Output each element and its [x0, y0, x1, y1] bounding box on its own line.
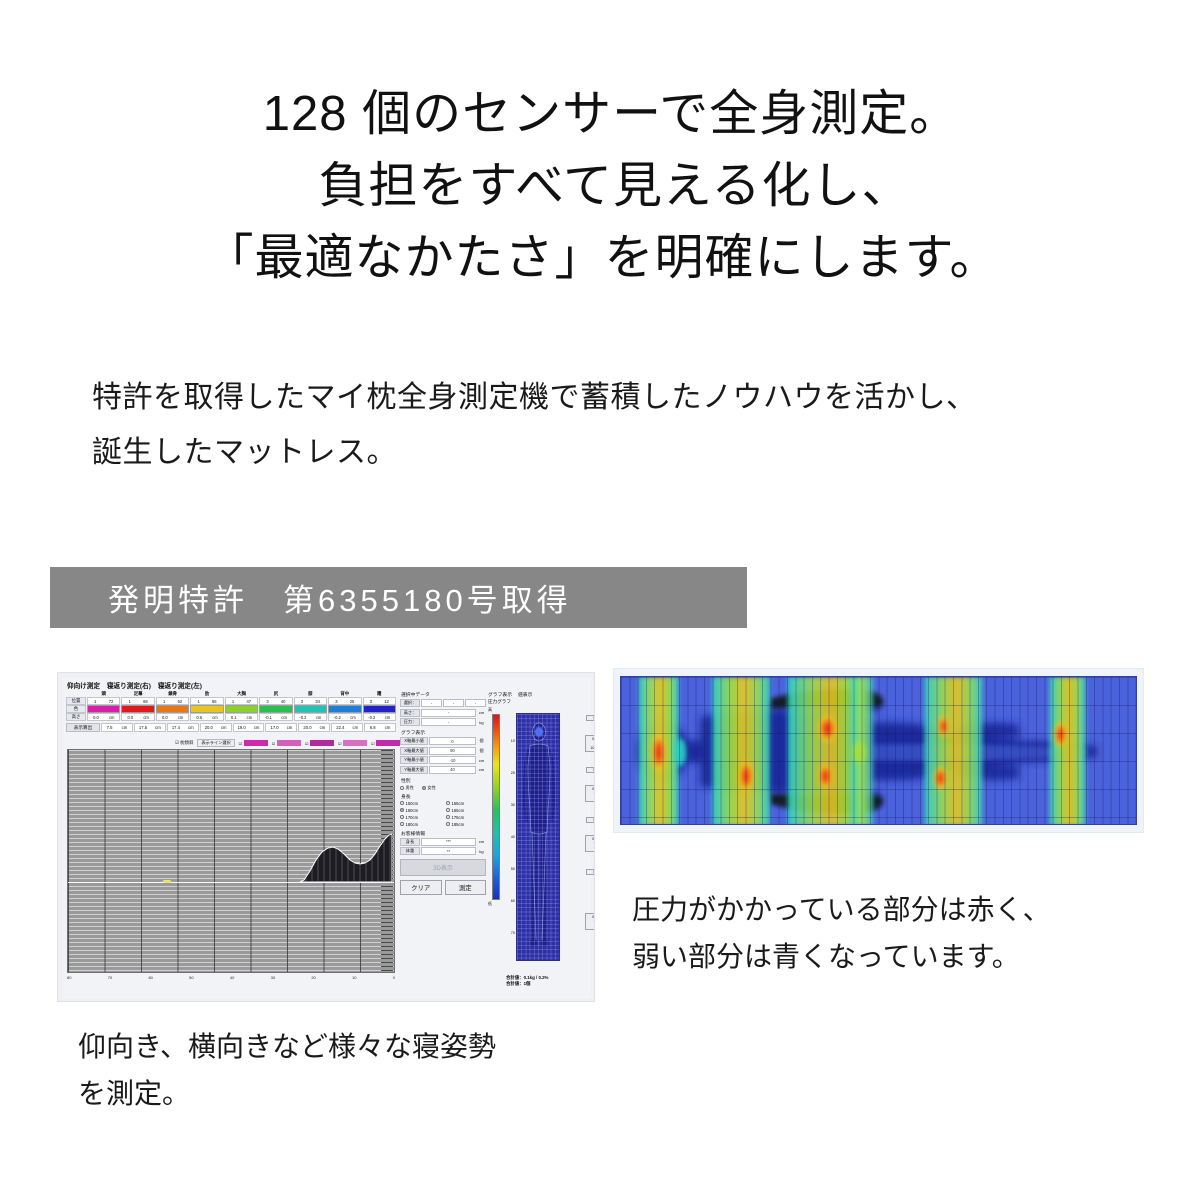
legend-swatch-3 — [310, 740, 334, 746]
cell-pos-b: 62 — [178, 699, 183, 704]
cell-u: cm — [188, 725, 194, 730]
graph-x-axis-labels: 80 70 60 50 40 30 20 10 0 — [67, 975, 395, 980]
colorbar-high-label: 高 — [488, 707, 492, 713]
cell-pos-b: 68 — [143, 699, 148, 704]
radio-gender-female-label: 女性 — [427, 785, 435, 791]
radio-dot — [400, 801, 404, 805]
graph-baseline — [68, 882, 394, 883]
cell-h: 0.0 — [162, 715, 168, 720]
table-row[interactable]: 340 — [259, 697, 292, 705]
region-waist-pct: 0% — [586, 846, 595, 851]
table-row[interactable]: 162 — [156, 697, 189, 705]
measure-button[interactable]: 測定 — [445, 880, 487, 895]
caption-right-line-1: 圧力がかかっている部分は赤く、 — [632, 886, 1051, 933]
control-panel: 選択中データ 選択： - - - 高さ： - cm 圧力： - kg グラ — [400, 691, 486, 895]
color-swatch-2 — [156, 705, 189, 713]
x-tick-2: 60 — [148, 975, 152, 980]
body-grid-lines — [517, 714, 559, 960]
field-customer-height-unit: cm — [477, 839, 486, 844]
lead-line-1: 特許を取得したマイ枕全身測定機で蓄積したノウハウを活かし、 — [92, 370, 1102, 425]
selected-data-title: 選択中データ — [401, 691, 486, 698]
table-row[interactable]: 17.4cm — [167, 723, 199, 732]
field-x-max-label: X軸最大値 — [400, 747, 428, 755]
region-values-head: 0.1kg 1個 100.0% — [585, 735, 595, 752]
cell-u: cm — [352, 725, 358, 730]
heatmap-canvas[interactable] — [620, 676, 1137, 825]
radio-dot — [400, 815, 404, 819]
y-tick-20: 20 — [511, 771, 515, 775]
field-selection-input-1[interactable]: - — [421, 699, 442, 707]
caption-right-line-2: 弱い部分は青くなっています。 — [632, 933, 1051, 980]
radio-height-155[interactable]: 155cm — [446, 801, 464, 806]
heatmap-sensor-grid — [621, 677, 1136, 824]
color-swatch-8 — [363, 705, 396, 713]
field-pressure-input[interactable]: - — [421, 718, 476, 726]
cell-u: cm — [143, 715, 148, 720]
table-row[interactable]: -0.2cm — [294, 713, 327, 721]
cell-pos-b: 72 — [109, 699, 114, 704]
field-height-unit: cm — [477, 710, 486, 715]
radio-height-170[interactable]: 170cm — [400, 815, 438, 820]
cell-u: cm — [281, 715, 286, 720]
field-y-max-input[interactable]: 40 — [429, 766, 476, 774]
cell-pos-a: 1 — [197, 699, 199, 704]
field-pressure: 圧力： - kg — [400, 718, 486, 726]
field-selection-input-2[interactable]: - — [443, 699, 464, 707]
cell-u: cm — [385, 725, 391, 730]
field-customer-height-label: 身長 — [400, 838, 420, 846]
gender-radio-group: 男性 女性 — [400, 785, 486, 791]
patent-banner-text: 発明特許 第6355180号取得 — [50, 575, 572, 620]
table-row[interactable]: 22.4cm — [331, 723, 363, 732]
x-tick-0: 80 — [67, 975, 71, 980]
cell-u: cm — [122, 725, 128, 730]
legend-swatch-4 — [277, 740, 301, 746]
table-row-color: 色 — [66, 705, 396, 713]
view-3d-button[interactable]: 3D表示 — [400, 859, 486, 876]
body-grid[interactable] — [516, 713, 560, 961]
cell-pos-b: 55 — [212, 699, 217, 704]
pressure-colorbar: 高 低 — [488, 707, 504, 907]
y-tick-30: 30 — [511, 803, 515, 807]
field-y-min-unit: cm — [477, 758, 486, 763]
table-row[interactable]: 17.5cm — [134, 723, 166, 732]
table-row[interactable]: 6.8cm — [364, 723, 396, 732]
field-y-min-input[interactable]: -10 — [429, 756, 476, 764]
region-annotations: 頭部 0.1kg 1個 100.0% 胸部 0.0kg 0個 0% 腰部 — [584, 713, 595, 971]
table-row[interactable]: 334 — [294, 697, 327, 705]
row-label-position: 位置 — [66, 697, 86, 705]
measurement-table: 頭 足幕 鎖骨 肋 大胸 尻 膝 背中 踵 位置 172 168 162 155 — [66, 691, 396, 732]
cell-pos-a: 1 — [94, 699, 96, 704]
software-window: 仰向け測定 寝返り測定(右) 寝返り測定(左) 頭 足幕 鎖骨 肋 大胸 尻 膝… — [63, 677, 591, 999]
x-tick-3: 50 — [189, 975, 193, 980]
cell-h: -0.2 — [334, 715, 341, 720]
y-tick-60: 60 — [511, 899, 515, 903]
cell-h: 0.0 — [128, 715, 134, 720]
color-swatch-7 — [328, 705, 361, 713]
radio-dot — [446, 801, 450, 805]
graph-legend-strip: ☑ 枕傾斜 表示ライン選択 ☑ ☑ ☑ ☑ ☑ — [175, 739, 400, 747]
x-tick-8: 0 — [393, 975, 395, 980]
field-height-label: 高さ： — [400, 709, 420, 717]
table-row[interactable]: 168 — [121, 697, 154, 705]
height-title: 身長 — [401, 793, 486, 800]
region-tag-waist: 腰部 — [586, 817, 595, 823]
radio-dot — [422, 786, 426, 790]
field-selection-input-3[interactable]: - — [465, 699, 486, 707]
cell-u: cm — [247, 715, 252, 720]
cell-u: cm — [350, 715, 355, 720]
legend-line-4[interactable]: ☑ — [272, 740, 301, 746]
radio-gender-male[interactable]: 男性 — [400, 785, 414, 791]
table-row[interactable]: 0.0cm — [87, 713, 120, 721]
cell-pos-a: 1 — [232, 699, 234, 704]
row-label-height: 高さ — [66, 713, 86, 721]
field-pressure-label: 圧力： — [400, 718, 420, 726]
cell-u: cm — [155, 725, 161, 730]
region-values-chest: 0.0kg 0個 0% — [585, 785, 595, 802]
cell-pos-a: 3 — [370, 699, 372, 704]
cell-pos-b: 40 — [281, 699, 286, 704]
cell-pos-b: 25 — [350, 699, 355, 704]
table-row[interactable]: 20.0cm — [200, 723, 232, 732]
color-swatch-4 — [225, 705, 258, 713]
radio-height-155-label: 155cm — [452, 801, 465, 806]
head-pressure-blob — [534, 726, 544, 738]
color-swatch-0 — [87, 705, 120, 713]
x-tick-4: 40 — [230, 975, 234, 980]
tab-rollover-right[interactable]: 寝返り測定(右) — [107, 680, 151, 690]
region-values-waist: 0.0kg 0個 0% — [585, 835, 595, 852]
headline-line-1: 128 個のセンサーで全身測定。 — [0, 78, 1200, 150]
checkbox-pillow-tilt[interactable]: ☑ 枕傾斜 — [175, 740, 193, 746]
cell-u: cm — [320, 725, 326, 730]
field-y-min-label: Y軸最小値 — [400, 756, 428, 764]
graph-display-title: グラフ表示 — [401, 729, 486, 736]
headline-line-2: 負担をすべて見える化し、 — [0, 150, 1200, 222]
table-row[interactable]: 0.6cm — [190, 713, 223, 721]
field-x-max-input[interactable]: 80 — [429, 747, 476, 755]
x-tick-6: 20 — [311, 975, 315, 980]
region-tag-head: 頭部 — [586, 715, 595, 721]
table-row[interactable]: -0.1cm — [259, 713, 292, 721]
lead-line-2: 誕生したマットレス。 — [92, 425, 1102, 480]
height-radio-row-4: 180cm 185cm — [400, 822, 486, 827]
cell-u: cm — [287, 725, 293, 730]
region-tag-leg: 脚部 — [586, 869, 595, 875]
table-row[interactable]: 20.0cm — [298, 723, 330, 732]
checkbox-pillow-tilt-label: 枕傾斜 — [180, 740, 193, 745]
cell-h: 0.1 — [231, 715, 237, 720]
table-row[interactable]: 0.0cm — [156, 713, 189, 721]
cell-u: cm — [109, 715, 114, 720]
radio-height-170-label: 170cm — [406, 815, 419, 820]
cell-c: 7.5 — [107, 725, 113, 730]
radio-height-180-label: 180cm — [406, 822, 419, 827]
clear-button[interactable]: クリア — [400, 880, 442, 895]
cell-c: 17.4 — [172, 725, 180, 730]
table-row[interactable]: 7.5cm — [101, 723, 133, 732]
table-row[interactable]: 147 — [225, 697, 258, 705]
table-row[interactable]: 155 — [190, 697, 223, 705]
field-customer-height-input[interactable]: *** — [421, 838, 476, 846]
table-row-height: 高さ 0.0cm 0.0cm 0.0cm 0.6cm 0.1cm -0.1cm … — [66, 713, 396, 721]
radio-height-150-label: 150cm — [406, 801, 419, 806]
legend-swatch-5 — [244, 740, 268, 746]
y-tick-40: 40 — [511, 835, 515, 839]
cell-c: 17.5 — [139, 725, 147, 730]
cell-pos-a: 1 — [163, 699, 165, 704]
field-customer-weight-label: 体重 — [400, 847, 420, 855]
lead-paragraph: 特許を取得したマイ枕全身測定機で蓄積したノウハウを活かし、 誕生したマットレス。 — [92, 370, 1102, 480]
caption-left-line-1: 仰向き、横向きなど様々な寝姿勢 — [78, 1023, 496, 1070]
cell-c: 20.0 — [205, 725, 213, 730]
tab-supine[interactable]: 仰向け測定 — [67, 680, 100, 690]
cell-c: 17.0 — [270, 725, 278, 730]
body-pressure-heatmap-screenshot — [613, 668, 1144, 833]
y-tick-70: 70 — [511, 931, 515, 935]
radio-dot — [446, 822, 450, 826]
figure-title: グラフ表示 — [488, 691, 512, 698]
radio-height-185-label: 185cm — [452, 822, 465, 827]
line-select-button[interactable]: 表示ライン選択 — [197, 739, 234, 747]
region-leg-pct: 0% — [586, 924, 595, 929]
field-height-input[interactable]: - — [421, 709, 476, 717]
cell-c: 6.8 — [370, 725, 376, 730]
region-tag-chest: 胸部 — [586, 767, 595, 773]
radio-height-160-label: 160cm — [406, 808, 419, 813]
table-row[interactable]: 0.0cm — [121, 713, 154, 721]
legend-swatch-1 — [376, 740, 400, 746]
radio-height-185[interactable]: 185cm — [446, 822, 464, 827]
measurement-software-screenshot: 仰向け測定 寝返り測定(右) 寝返り測定(左) 頭 足幕 鎖骨 肋 大胸 尻 膝… — [57, 672, 595, 1002]
figure-title-row: グラフ表示 値表示 — [488, 691, 591, 698]
table-row[interactable]: -0.2cm — [363, 713, 396, 721]
radio-gender-female[interactable]: 女性 — [422, 785, 436, 791]
field-selection-label: 選択： — [400, 699, 420, 707]
summary-values: 合計値：0.1kg / 0.2% 合計値：1個 — [506, 975, 590, 986]
radio-height-165[interactable]: 165cm — [446, 808, 464, 813]
table-row[interactable]: 172 — [87, 697, 120, 705]
field-height: 高さ： - cm — [400, 709, 486, 717]
x-tick-5: 30 — [271, 975, 275, 980]
x-tick-1: 70 — [108, 975, 112, 980]
cell-pos-a: 1 — [129, 699, 131, 704]
region-chest-pct: 0% — [586, 796, 595, 801]
cell-c: 19.0 — [238, 725, 246, 730]
radio-dot — [400, 822, 404, 826]
table-row[interactable]: 0.1cm — [225, 713, 258, 721]
cell-c: 20.0 — [303, 725, 311, 730]
table-row[interactable]: 312 — [363, 697, 396, 705]
radio-dot — [400, 808, 404, 812]
radio-height-165-label: 165cm — [452, 808, 465, 813]
headline-line-3: 「最適なかたさ」を明確にします。 — [0, 222, 1200, 294]
graph-marker — [163, 880, 171, 883]
field-y-min: Y軸最小値 -10 cm — [400, 756, 486, 764]
field-x-min: X軸最小値 0 個 — [400, 737, 486, 745]
field-pressure-unit: kg — [477, 720, 486, 725]
radio-height-150[interactable]: 150cm — [400, 801, 438, 806]
color-swatch-5 — [259, 705, 292, 713]
colorbar-gradient — [492, 714, 500, 900]
row-label-calc[interactable]: 表示算出 — [66, 723, 100, 732]
radio-dot — [446, 808, 450, 812]
tab-rollover-left[interactable]: 寝返り測定(左) — [158, 680, 202, 690]
cell-u: cm — [316, 715, 321, 720]
cell-pos-a: 3 — [266, 699, 268, 704]
color-swatch-1 — [121, 705, 154, 713]
cell-pos-a: 3 — [335, 699, 337, 704]
region-values-leg: 0.0kg 0個 0% — [585, 913, 595, 930]
figure-subtitle: 圧力グラフ — [488, 699, 591, 705]
gender-title: 性別 — [401, 777, 486, 784]
table-row-calc: 表示算出 7.5cm 17.5cm 17.4cm 20.0cm 19.0cm 1… — [66, 723, 396, 732]
height-radio-row-3: 170cm 175cm — [400, 815, 486, 820]
customer-title: お客様情報 — [401, 830, 486, 837]
cell-pos-b: 34 — [315, 699, 320, 704]
software-tab-bar: 仰向け測定 寝返り測定(右) 寝返り測定(左) — [67, 680, 202, 690]
cell-pos-b: 47 — [246, 699, 251, 704]
field-customer-weight-input[interactable]: ** — [421, 847, 476, 855]
action-button-row: クリア 測定 — [400, 880, 486, 895]
table-row[interactable]: 19.0cm — [233, 723, 265, 732]
table-row[interactable]: 325 — [328, 697, 361, 705]
body-map-y-ticks: 10 20 30 40 50 60 70 — [506, 713, 516, 961]
body-pressure-map[interactable]: 10 20 30 40 50 60 70 — [506, 713, 564, 971]
cell-u: cm — [385, 715, 390, 720]
cell-h: -0.2 — [299, 715, 306, 720]
cell-u: cm — [254, 725, 260, 730]
body-figure-section: グラフ表示 値表示 圧力グラフ 高 低 10 20 30 40 50 — [487, 691, 591, 991]
promo-page: 128 個のセンサーで全身測定。 負担をすべて見える化し、 「最適なかたさ」を明… — [0, 0, 1200, 1200]
field-x-min-unit: 個 — [477, 738, 486, 744]
caption-left: 仰向き、横向きなど様々な寝姿勢 を測定。 — [78, 1023, 496, 1117]
cell-u: cm — [212, 715, 217, 720]
height-radio-row-2: 160cm 165cm — [400, 808, 486, 813]
radio-height-175-label: 175cm — [452, 815, 465, 820]
cell-pos-b: 12 — [384, 699, 389, 704]
table-row[interactable]: -0.2cm — [328, 713, 361, 721]
field-y-max-unit: cm — [477, 767, 486, 772]
cell-u: cm — [178, 715, 183, 720]
colorbar-low-label: 低 — [488, 901, 492, 907]
graph-profile-curve — [300, 830, 392, 882]
legend-line-2[interactable]: ☑ — [338, 740, 367, 746]
field-y-max-label: Y軸最大値 — [400, 766, 428, 774]
profile-graph[interactable] — [67, 749, 395, 973]
field-y-max: Y軸最大値 40 cm — [400, 766, 486, 774]
cell-u: cm — [221, 725, 227, 730]
region-head-pct: 100.0% — [586, 746, 595, 751]
radio-height-160[interactable]: 160cm — [400, 808, 438, 813]
field-customer-height: 身長 *** cm — [400, 838, 486, 846]
table-row-position: 位置 172 168 162 155 147 340 334 325 312 — [66, 697, 396, 705]
caption-left-line-2: を測定。 — [78, 1070, 496, 1117]
legend-line-1[interactable]: ☑ — [371, 740, 400, 746]
caption-right: 圧力がかかっている部分は赤く、 弱い部分は青くなっています。 — [632, 886, 1051, 980]
field-x-min-input[interactable]: 0 — [429, 737, 476, 745]
color-swatch-3 — [190, 705, 223, 713]
radio-dot — [400, 786, 404, 790]
summary-line-2: 合計値：1個 — [506, 981, 590, 987]
legend-swatch-2 — [343, 740, 367, 746]
cell-h: 0.0 — [93, 715, 99, 720]
radio-height-175[interactable]: 175cm — [446, 815, 464, 820]
field-x-max: X軸最大値 80 個 — [400, 747, 486, 755]
field-customer-weight-unit: kg — [477, 849, 486, 854]
row-label-color: 色 — [66, 705, 86, 713]
radio-dot — [446, 815, 450, 819]
cell-h: -0.1 — [265, 715, 272, 720]
figure-title-2: 値表示 — [518, 691, 532, 698]
radio-height-180[interactable]: 180cm — [400, 822, 438, 827]
field-customer-weight: 体重 ** kg — [400, 847, 486, 855]
height-radio-row-1: 150cm 155cm — [400, 801, 486, 806]
legend-line-3[interactable]: ☑ — [305, 740, 334, 746]
field-x-max-unit: 個 — [477, 748, 486, 754]
patent-banner: 発明特許 第6355180号取得 — [50, 567, 747, 628]
page-title: 128 個のセンサーで全身測定。 負担をすべて見える化し、 「最適なかたさ」を明… — [0, 78, 1200, 294]
x-tick-7: 10 — [352, 975, 356, 980]
table-row[interactable]: 17.0cm — [265, 723, 297, 732]
radio-gender-male-label: 男性 — [406, 785, 414, 791]
cell-h: -0.2 — [368, 715, 375, 720]
cell-pos-a: 3 — [301, 699, 303, 704]
cell-c: 22.4 — [336, 725, 344, 730]
y-tick-50: 50 — [511, 867, 515, 871]
cell-h: 0.6 — [196, 715, 202, 720]
y-tick-10: 10 — [511, 739, 515, 743]
legend-line-5[interactable]: ☑ — [239, 740, 268, 746]
field-selection: 選択： - - - — [400, 699, 486, 707]
color-swatch-6 — [294, 705, 327, 713]
field-x-min-label: X軸最小値 — [400, 737, 428, 745]
